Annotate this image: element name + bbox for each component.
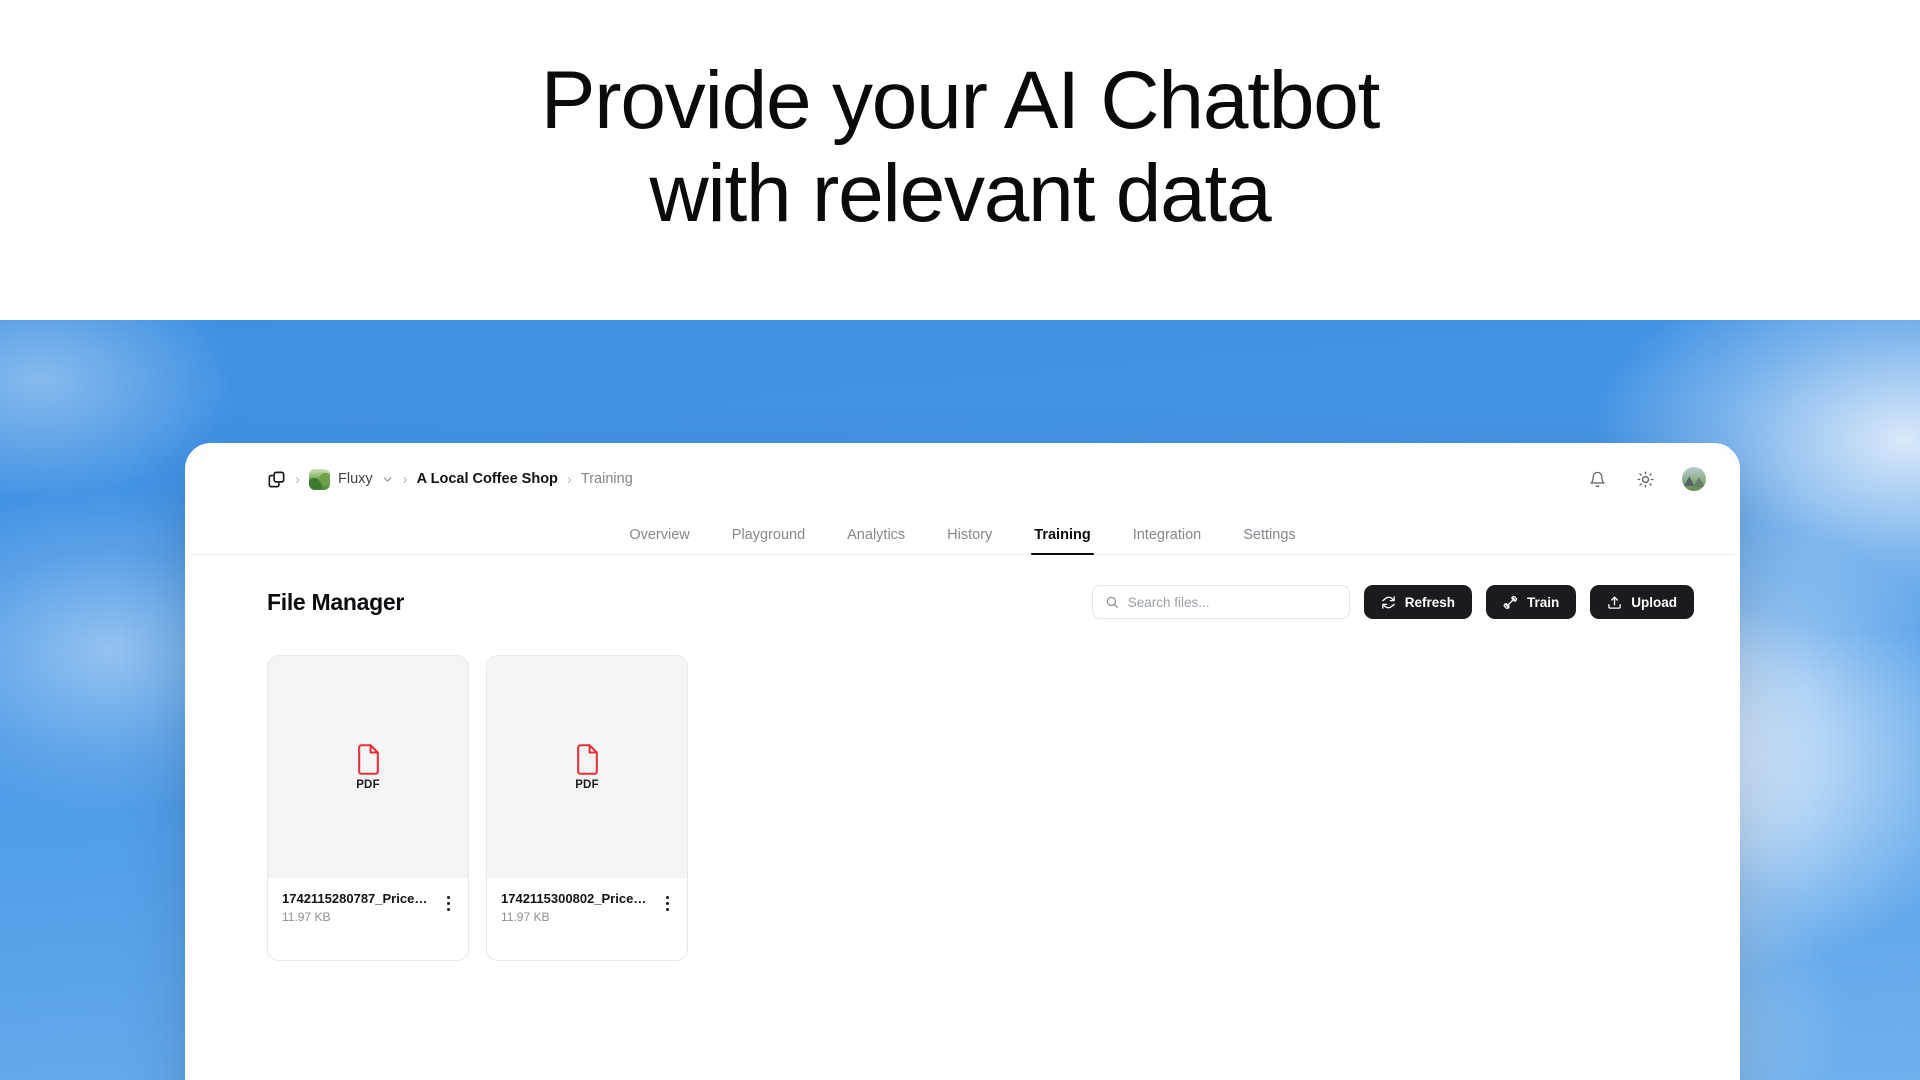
file-name: 1742115300802_Prices ... <box>501 891 652 906</box>
page-title: File Manager <box>267 589 404 616</box>
dumbbell-icon <box>1503 595 1518 610</box>
tab-analytics[interactable]: Analytics <box>826 528 926 555</box>
workspace-name: Fluxy <box>338 471 373 487</box>
chevron-down-icon[interactable] <box>381 473 394 486</box>
content-header: File Manager <box>267 585 1694 619</box>
tab-playground[interactable]: Playground <box>711 528 826 555</box>
bell-icon[interactable] <box>1586 468 1608 490</box>
search-icon <box>1105 595 1119 609</box>
refresh-button[interactable]: Refresh <box>1364 585 1472 619</box>
tab-integration[interactable]: Integration <box>1112 528 1223 555</box>
tab-settings[interactable]: Settings <box>1222 528 1316 555</box>
tab-bar: Overview Playground Analytics History Tr… <box>191 509 1734 555</box>
file-size: 11.97 KB <box>282 910 433 924</box>
copy-icon[interactable] <box>267 470 286 489</box>
file-card-text: 1742115280787_Prices o... 11.97 KB <box>282 891 433 924</box>
breadcrumb-project[interactable]: A Local Coffee Shop <box>417 471 558 487</box>
breadcrumb: › Fluxy › A Local Coffee Shop › Training <box>267 469 1586 490</box>
workspace-switcher[interactable]: Fluxy <box>309 469 394 490</box>
file-card-meta: 1742115280787_Prices o... 11.97 KB <box>268 878 468 960</box>
search-files-box[interactable] <box>1092 585 1350 619</box>
app-topbar: › Fluxy › A Local Coffee Shop › Training <box>191 449 1734 509</box>
pdf-type-label: PDF <box>575 779 599 791</box>
breadcrumb-separator-3: › <box>567 472 572 487</box>
pdf-file-icon: PDF <box>356 744 381 791</box>
file-card[interactable]: PDF 1742115300802_Prices ... 11.97 KB <box>486 655 688 961</box>
upload-button-label: Upload <box>1631 595 1677 610</box>
file-thumbnail: PDF <box>268 656 468 878</box>
upload-icon <box>1607 595 1622 610</box>
tab-history[interactable]: History <box>926 528 1013 555</box>
app-window-inner: › Fluxy › A Local Coffee Shop › Training <box>191 449 1734 1080</box>
train-button-label: Train <box>1527 595 1559 610</box>
file-toolbar: Refresh <box>1092 585 1694 619</box>
refresh-button-label: Refresh <box>1405 595 1455 610</box>
hero-section: Provide your AI Chatbot with relevant da… <box>0 0 1920 320</box>
topbar-actions <box>1586 467 1706 491</box>
tab-training[interactable]: Training <box>1013 528 1111 555</box>
file-thumbnail: PDF <box>487 656 687 878</box>
breadcrumb-separator-1: › <box>295 472 300 487</box>
search-input[interactable] <box>1128 595 1337 610</box>
file-card-text: 1742115300802_Prices ... 11.97 KB <box>501 891 652 924</box>
avatar[interactable] <box>1682 467 1706 491</box>
breadcrumb-separator-2: › <box>403 472 408 487</box>
train-button[interactable]: Train <box>1486 585 1576 619</box>
pdf-file-icon: PDF <box>575 744 600 791</box>
file-grid: PDF 1742115280787_Prices o... 11.97 KB <box>267 655 1694 961</box>
kebab-menu-icon[interactable] <box>439 893 457 913</box>
file-name: 1742115280787_Prices o... <box>282 891 433 906</box>
kebab-menu-icon[interactable] <box>658 893 676 913</box>
refresh-icon <box>1381 595 1396 610</box>
file-card[interactable]: PDF 1742115280787_Prices o... 11.97 KB <box>267 655 469 961</box>
screenshot-root: Provide your AI Chatbot with relevant da… <box>0 0 1920 1080</box>
workspace-logo-icon <box>309 469 330 490</box>
file-size: 11.97 KB <box>501 910 652 924</box>
file-card-meta: 1742115300802_Prices ... 11.97 KB <box>487 878 687 960</box>
app-window: › Fluxy › A Local Coffee Shop › Training <box>185 443 1740 1080</box>
hero-headline-line-2: with relevant data <box>649 147 1270 240</box>
tab-overview[interactable]: Overview <box>608 528 710 555</box>
sun-icon[interactable] <box>1634 468 1656 490</box>
upload-button[interactable]: Upload <box>1590 585 1694 619</box>
hero-headline-line-1: Provide your AI Chatbot <box>541 54 1379 147</box>
breadcrumb-section: Training <box>581 471 633 487</box>
main-content: File Manager <box>191 555 1734 1080</box>
pdf-type-label: PDF <box>356 779 380 791</box>
